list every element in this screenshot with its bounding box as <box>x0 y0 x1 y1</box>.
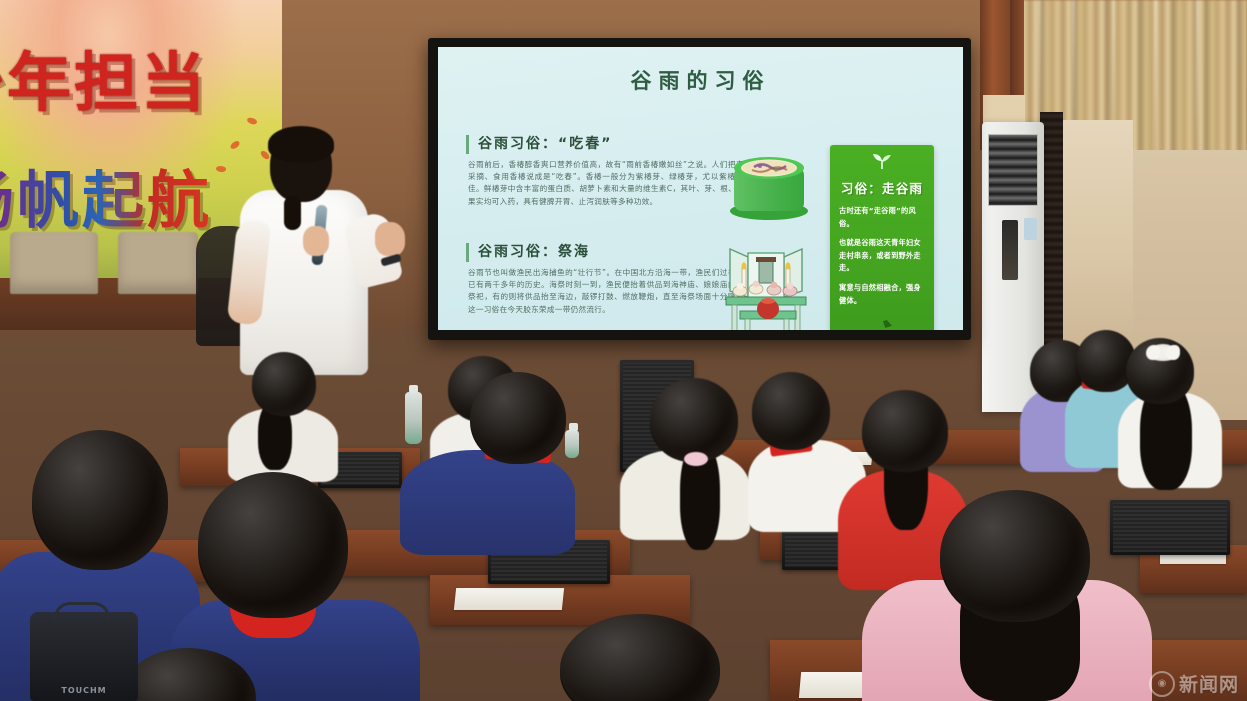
callout-paragraph-1: 古时还有“走谷雨”的风俗。 <box>839 205 925 230</box>
classroom-photo: 少年担当 扬帆起航 典礼 谷雨的习俗 谷雨习俗：“吃春” 谷雨前后，香椿醇香爽口… <box>0 0 1247 701</box>
paper-sheet-1 <box>454 588 564 610</box>
slide-section-2: 谷雨习俗：祭海 谷雨节也叫做渔民出海捕鱼的“壮行节”。在中国北方沿海一带，渔民们… <box>466 243 752 316</box>
student-s3-head <box>32 430 168 570</box>
presenter-left-hand <box>303 226 329 256</box>
chair-left <box>10 232 98 294</box>
green-steamer-bowl-icon <box>724 145 814 223</box>
section-2-heading: 谷雨习俗：祭海 <box>466 243 752 262</box>
watermark-seal-icon: ◉ <box>1149 671 1175 697</box>
watermark: ◉ 新闻网 <box>1149 670 1239 697</box>
ac-badge <box>1024 218 1037 240</box>
student-s4-head <box>650 378 738 462</box>
presenter-right-hand <box>375 222 405 256</box>
section-1-heading: 谷雨习俗：“吃春” <box>466 135 752 154</box>
student-s7-hair-bow <box>1148 344 1178 361</box>
student-s10-head <box>198 472 348 618</box>
banner-line-1: 少年担当 <box>0 32 208 124</box>
student-back-left-head <box>252 352 316 416</box>
callout-paragraph-2: 也就是谷雨这天青年妇女走村串亲，或者到野外走走。 <box>839 237 925 275</box>
student-s1-head <box>470 372 566 464</box>
slide-callout-card: 习俗：走谷雨 古时还有“走谷雨”的风俗。 也就是谷雨这天青年妇女走村串亲，或者到… <box>830 145 934 330</box>
section-1-body: 谷雨前后，香椿醇香爽口营养价值高，故有“雨前香椿嫩如丝”之说。人们把春天采摘、食… <box>466 159 752 208</box>
student-s5-head <box>940 490 1090 622</box>
projection-screen[interactable]: 谷雨的习俗 谷雨习俗：“吃春” 谷雨前后，香椿醇香爽口营养价值高，故有“雨前香椿… <box>428 38 971 340</box>
slide-section-1: 谷雨习俗：“吃春” 谷雨前后，香椿醇香爽口营养价值高，故有“雨前香椿嫩如丝”之说… <box>466 135 752 208</box>
water-bottle-2[interactable] <box>565 430 579 458</box>
watermark-text: 新闻网 <box>1179 670 1239 697</box>
presenter-hair-tail <box>284 196 301 230</box>
callout-paragraph-3: 寓意与自然相融合，强身健体。 <box>839 282 925 307</box>
bag-brand-label: TOUCHM <box>30 686 138 695</box>
sea-offering-altar-icon <box>718 239 814 330</box>
student-s1-shirt <box>400 450 575 555</box>
bag-handle <box>54 602 110 620</box>
slide-title: 谷雨的习俗 <box>438 65 963 95</box>
mouse-pointer-icon <box>883 319 892 328</box>
ac-display-panel <box>1002 220 1018 280</box>
chair-left-2 <box>118 232 198 294</box>
ac-vent-grill <box>988 134 1038 206</box>
desk-monitor-3[interactable] <box>1110 500 1230 555</box>
banner-line-2: 扬帆起航 <box>0 150 212 240</box>
student-s6-head <box>862 390 948 472</box>
student-center-head <box>752 372 830 450</box>
callout-title: 习俗：走谷雨 <box>839 178 925 197</box>
presenter-fringe <box>268 126 334 162</box>
lunch-bag[interactable]: TOUCHM <box>30 612 138 701</box>
section-2-body: 谷雨节也叫做渔民出海捕鱼的“壮行节”。在中国北方沿海一带，渔民们过谷雨节已有两千… <box>466 267 752 316</box>
water-bottle-1[interactable] <box>405 392 422 444</box>
sprout-leaf-icon <box>839 153 925 174</box>
presentation-slide: 谷雨的习俗 谷雨习俗：“吃春” 谷雨前后，香椿醇香爽口营养价值高，故有“雨前香椿… <box>438 47 963 330</box>
student-s4-hair-tie <box>684 452 708 466</box>
